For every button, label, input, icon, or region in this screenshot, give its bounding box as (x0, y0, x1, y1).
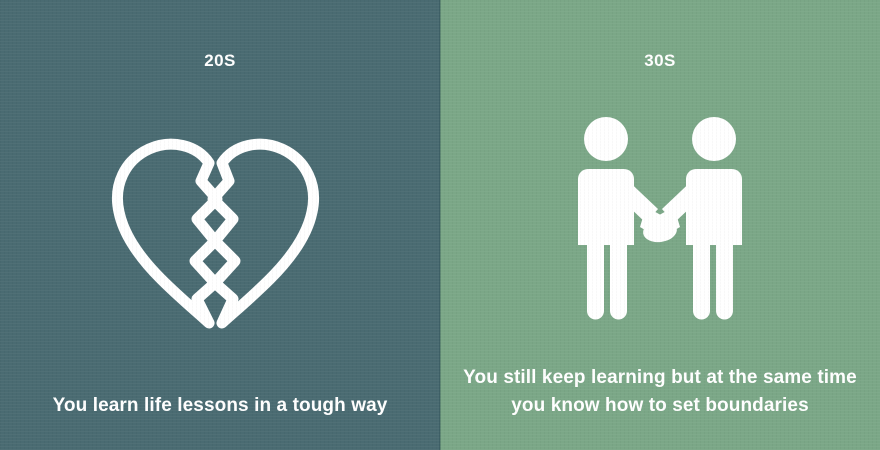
panel-twenties: 20S You learn life lessons in a tough wa… (0, 0, 440, 450)
right-person-right-leg (716, 239, 733, 320)
left-person-left-leg (587, 239, 604, 320)
icon-area-thirties (440, 73, 880, 364)
left-person-right-leg (610, 239, 627, 320)
left-person-head (584, 117, 628, 161)
right-person-left-leg (693, 239, 710, 320)
panel-caption-twenties: You learn life lessons in a tough way (24, 392, 416, 420)
handshake-two-people-icon (560, 111, 760, 326)
comparison-infographic: 20S You learn life lessons in a tough wa… (0, 0, 880, 450)
panel-title-thirties: 30S (644, 52, 675, 69)
right-person-head (692, 117, 736, 161)
icon-area-twenties (0, 73, 440, 392)
panel-title-twenties: 20S (204, 52, 235, 69)
broken-heart-icon (105, 133, 335, 333)
panel-caption-thirties: You still keep learning but at the same … (460, 364, 860, 420)
panel-thirties: 30S (440, 0, 880, 450)
